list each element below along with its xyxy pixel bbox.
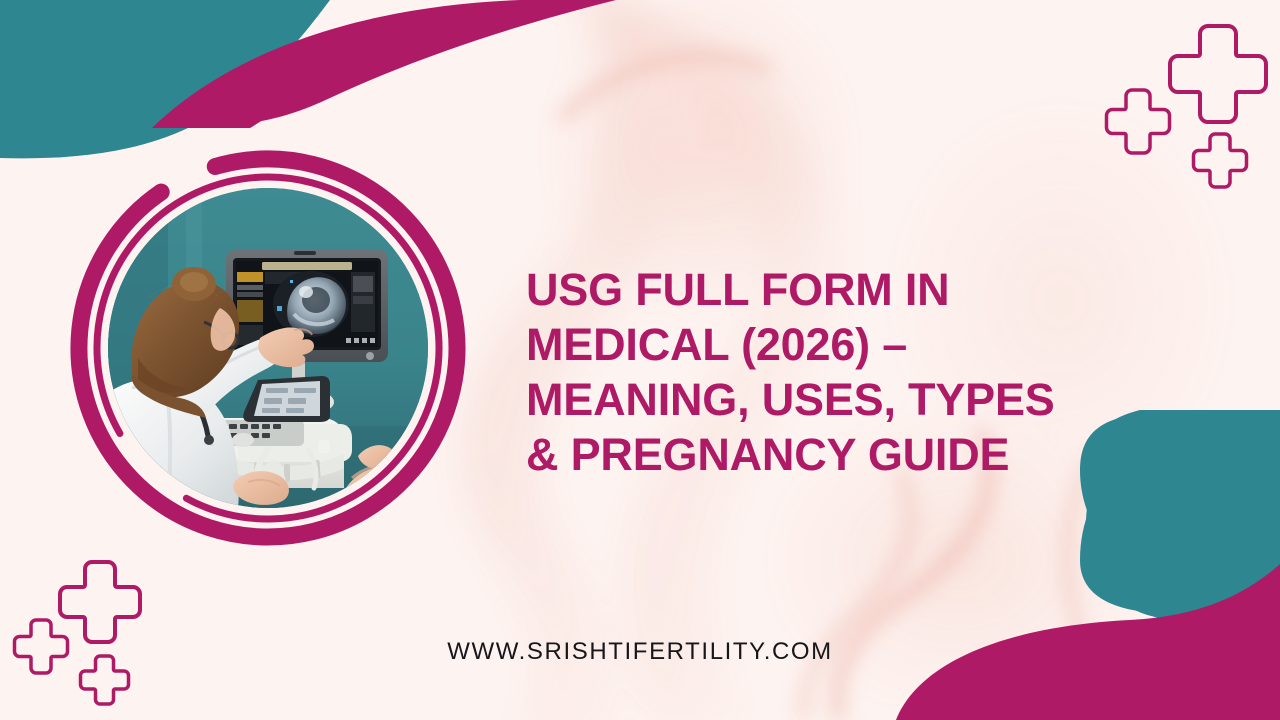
page-title: USG Full Form in Medical (2026) – Meanin… [526,262,1146,482]
photo-ring-frame [63,143,473,553]
magenta-leaf-shape [153,0,612,128]
headline-line-4: & Pregnancy Guide [526,427,1146,482]
photo-ring-inner [63,143,473,553]
headline-line-1: USG Full Form in [526,262,1146,317]
teal-wave-shape [0,0,330,158]
banner-canvas: USG Full Form in Medical (2026) – Meanin… [0,0,1280,720]
plus-icon-large [60,562,140,642]
plus-icon-small [1107,90,1170,153]
headline-line-3: Meaning, Uses, Types [526,372,1146,427]
plus-icon-tiny [1194,134,1247,187]
plus-icon-large [1170,26,1266,122]
website-url: www.srishtifertility.com [0,638,1280,666]
photo-ring-outer [63,143,473,553]
photo-medallion [63,143,473,553]
magenta-leaf-shape-main [153,0,612,128]
headline-line-2: Medical (2026) – [526,317,1146,372]
